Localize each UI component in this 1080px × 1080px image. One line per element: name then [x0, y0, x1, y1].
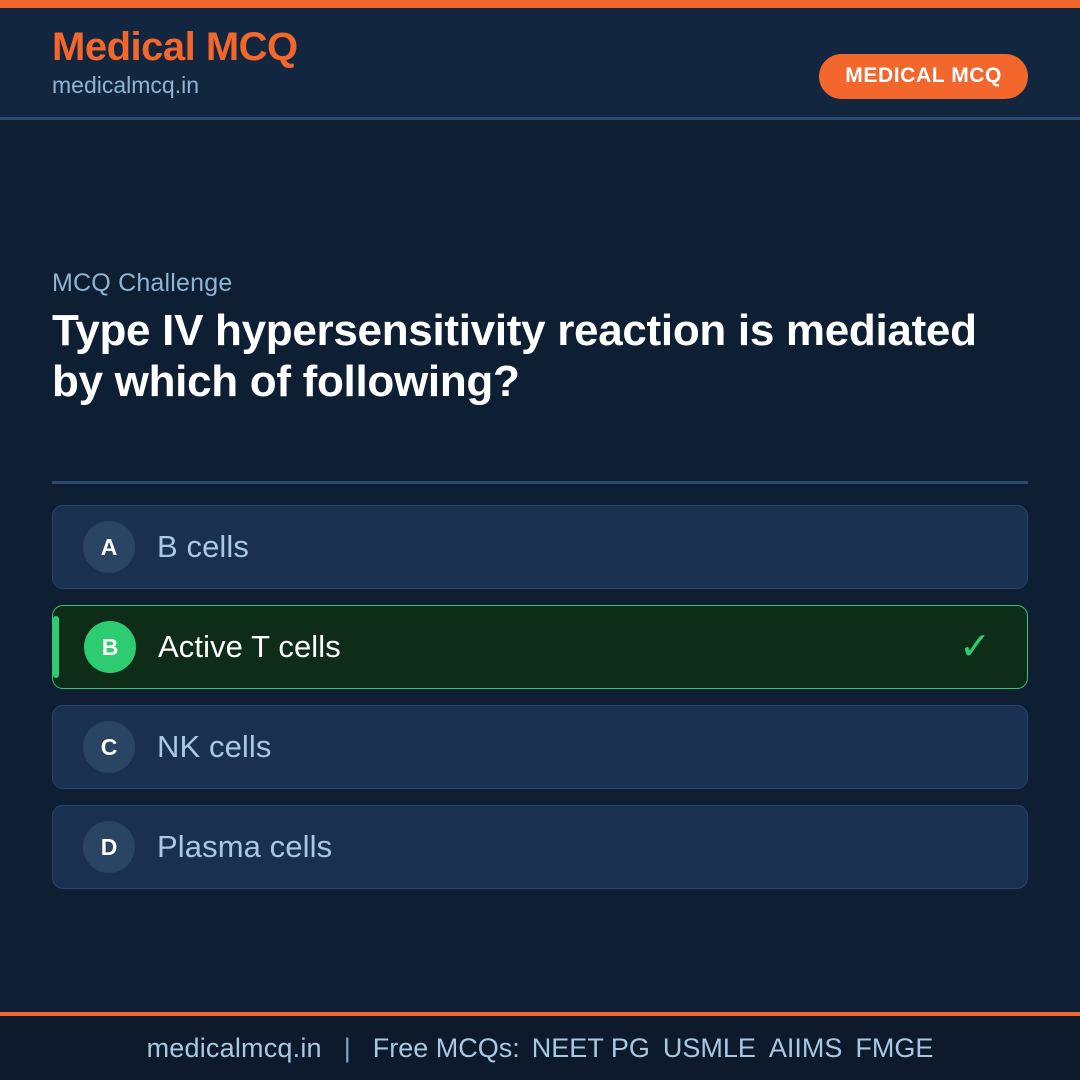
brand-title: Medical MCQ [52, 25, 298, 70]
options-list: A B cells ✓ B Active T cells ✓ C NK cell… [52, 505, 1028, 905]
option-label: B cells [157, 529, 249, 565]
header-badge: MEDICAL MCQ [819, 54, 1028, 99]
option-d[interactable]: D Plasma cells ✓ [52, 805, 1028, 889]
main-content: MCQ Challenge Type IV hypersensitivity r… [0, 123, 1080, 1012]
footer-exam-fmge[interactable]: FMGE [855, 1033, 933, 1064]
question-text: Type IV hypersensitivity reaction is med… [52, 305, 1012, 408]
top-accent-bar [0, 0, 1080, 8]
option-label: Active T cells [158, 629, 341, 665]
question-divider [52, 481, 1028, 484]
option-letter-badge: D [83, 821, 135, 873]
check-icon: ✓ [959, 628, 991, 666]
selected-accent-bar [53, 616, 59, 678]
footer-exam-aiims[interactable]: AIIMS [769, 1033, 843, 1064]
option-a[interactable]: A B cells ✓ [52, 505, 1028, 589]
option-letter-badge: B [84, 621, 136, 673]
eyebrow-label: MCQ Challenge [52, 269, 232, 298]
option-b[interactable]: B Active T cells ✓ [52, 605, 1028, 689]
footer-label: Free MCQs: [373, 1033, 520, 1064]
option-c[interactable]: C NK cells ✓ [52, 705, 1028, 789]
brand-subtitle: medicalmcq.in [52, 72, 298, 100]
footer-separator: | [344, 1033, 351, 1064]
footer-inner: medicalmcq.in | Free MCQs: NEET PG USMLE… [0, 1016, 1080, 1080]
footer-exam-neet-pg[interactable]: NEET PG [532, 1033, 650, 1064]
option-label: NK cells [157, 729, 272, 765]
option-letter-badge: A [83, 521, 135, 573]
footer-exam-usmle[interactable]: USMLE [663, 1033, 756, 1064]
page-header: Medical MCQ medicalmcq.in MEDICAL MCQ [0, 8, 1080, 120]
page-footer: medicalmcq.in | Free MCQs: NEET PG USMLE… [0, 1012, 1080, 1080]
footer-site-link[interactable]: medicalmcq.in [147, 1033, 322, 1064]
option-letter-badge: C [83, 721, 135, 773]
option-label: Plasma cells [157, 829, 332, 865]
brand-block: Medical MCQ medicalmcq.in [52, 25, 298, 99]
